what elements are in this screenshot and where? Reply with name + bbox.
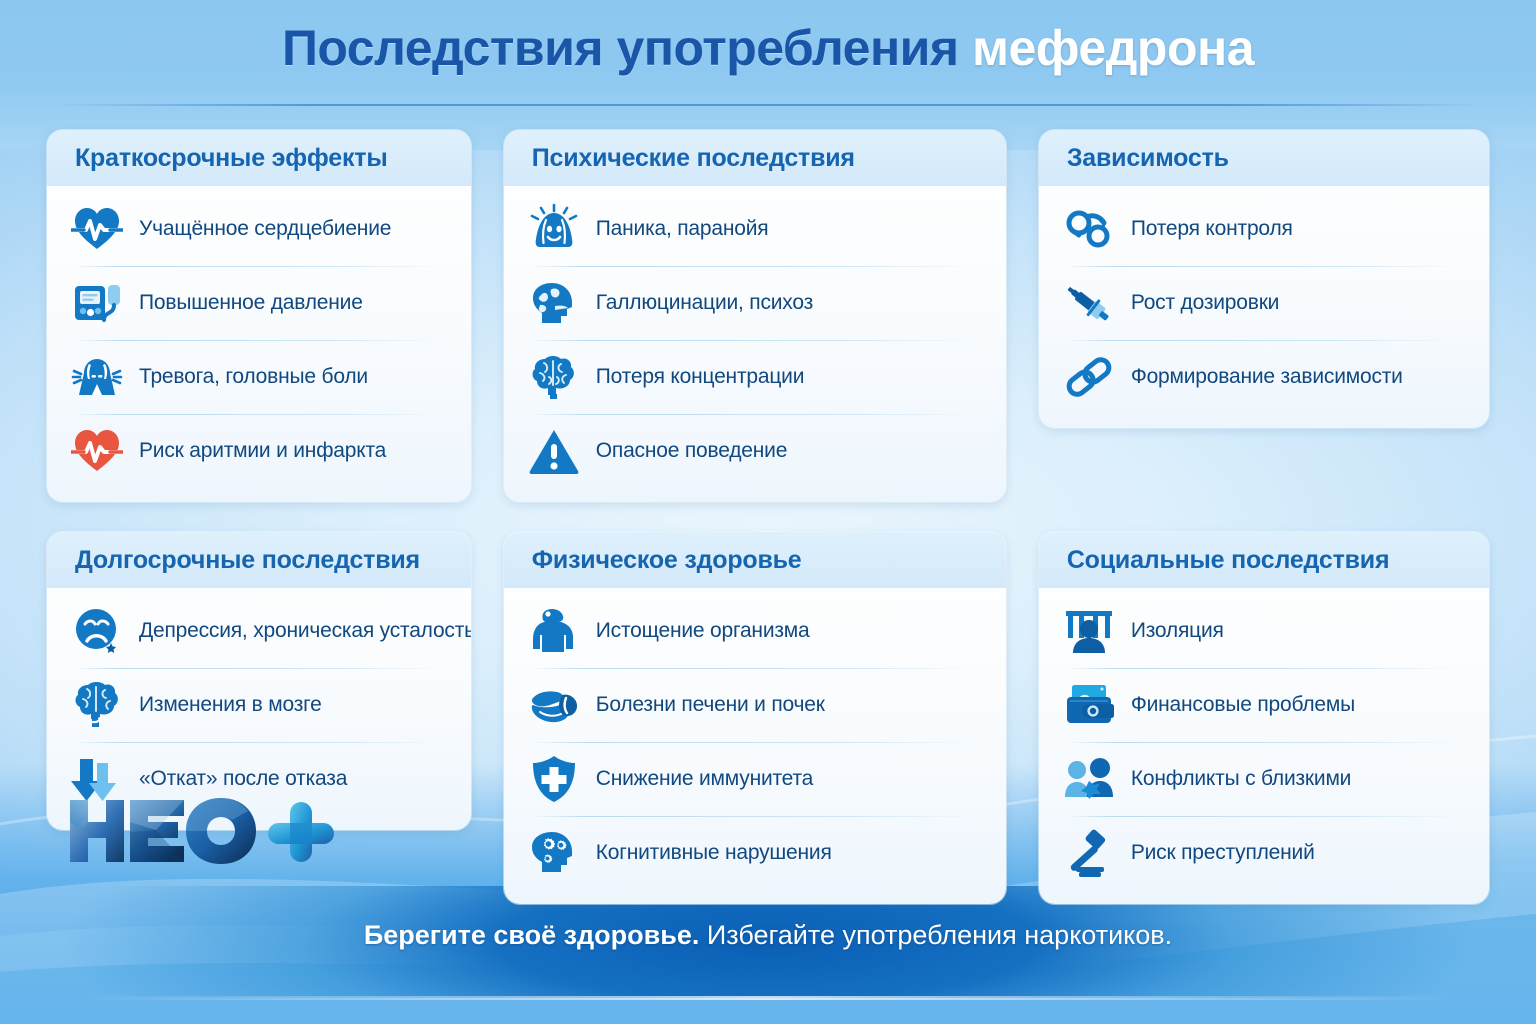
- shield-cross-icon: [526, 751, 582, 807]
- card-addiction: Зависимость Потеря контроля: [1039, 130, 1489, 428]
- card-header: Социальные последствия: [1039, 532, 1489, 588]
- card-body: Истощение организма Болезни печени и поч…: [504, 588, 1006, 904]
- list-item[interactable]: Повышенное давление: [69, 266, 449, 340]
- card-title: Физическое здоровье: [532, 546, 1006, 575]
- card-body: Потеря контроля: [1039, 186, 1489, 428]
- footer-message: Берегите своё здоровье. Избегайте употре…: [0, 920, 1536, 951]
- wallet-icon: [1061, 677, 1117, 733]
- card-title: Краткосрочные эффекты: [75, 144, 471, 173]
- blood-pressure-monitor-icon: [69, 275, 125, 331]
- footer-text-bold: Берегите своё здоровье.: [364, 920, 700, 950]
- list-item-label: Учащённое сердцебиение: [139, 217, 391, 241]
- card-header: Зависимость: [1039, 130, 1489, 186]
- list-item-label: Истощение организма: [596, 619, 810, 643]
- list-item-label: Изменения в мозге: [139, 693, 322, 717]
- list-item-label: Потеря контроля: [1131, 217, 1293, 241]
- card-body: Изоляция Финансовые: [1039, 588, 1489, 904]
- list-item[interactable]: Конфликты с близкими: [1061, 742, 1467, 816]
- card-title: Долгосрочные последствия: [75, 546, 471, 575]
- list-item-label: «Откат» после отказа: [139, 767, 347, 791]
- card-body: Учащённое сердцебиение: [47, 186, 471, 502]
- list-item[interactable]: Риск преступлений: [1061, 816, 1467, 890]
- list-item-label: Формирование зависимости: [1131, 365, 1403, 389]
- title-divider-rule: [52, 104, 1484, 106]
- panic-scared-face-icon: [526, 201, 582, 257]
- list-item[interactable]: Учащённое сердцебиение: [69, 192, 449, 266]
- footer-text-rest: Избегайте употребления наркотиков.: [699, 920, 1172, 950]
- list-item-label: Опасное поведение: [596, 439, 787, 463]
- page-title-accent: мефедрона: [972, 20, 1254, 76]
- list-item[interactable]: Риск аритмии и инфаркта: [69, 414, 449, 488]
- list-item[interactable]: Паника, паранойя: [526, 192, 984, 266]
- card-long-term-consequences: Долгосрочные последствия Депрессия, хрон…: [47, 532, 471, 830]
- card-title: Зависимость: [1067, 144, 1489, 173]
- cards-grid: Краткосрочные эффекты Учащённое сердцеби…: [47, 130, 1489, 904]
- gavel-icon: [1061, 825, 1117, 881]
- list-item-label: Риск преступлений: [1131, 841, 1315, 865]
- head-gears-icon: [526, 825, 582, 881]
- list-item-label: Потеря концентрации: [596, 365, 804, 389]
- list-item-label: Снижение иммунитета: [596, 767, 813, 791]
- syringe-icon: [1061, 275, 1117, 331]
- card-header: Долгосрочные последствия: [47, 532, 471, 588]
- card-social-consequences: Социальные последствия: [1039, 532, 1489, 904]
- list-item[interactable]: Депрессия, хроническая усталость: [69, 594, 449, 668]
- headache-person-icon: [69, 349, 125, 405]
- card-short-term-effects: Краткосрочные эффекты Учащённое сердцеби…: [47, 130, 471, 502]
- list-item[interactable]: Опасное поведение: [526, 414, 984, 488]
- brain-tree-icon: [69, 677, 125, 733]
- liver-kidney-icon: [526, 677, 582, 733]
- list-item[interactable]: Финансовые проблемы: [1061, 668, 1467, 742]
- list-item-label: Конфликты с близкими: [1131, 767, 1351, 791]
- list-item-label: Депрессия, хроническая усталость: [139, 619, 471, 643]
- list-item-label: Тревога, головные боли: [139, 365, 368, 389]
- list-item-label: Паника, паранойя: [596, 217, 769, 241]
- brain-icon: [526, 349, 582, 405]
- card-body: Паника, паранойя Галлюцинации, психоз: [504, 186, 1006, 502]
- chain-link-icon: [1061, 349, 1117, 405]
- page-header: Последствия употребления мефедрона: [0, 22, 1536, 75]
- card-title: Социальные последствия: [1067, 546, 1489, 575]
- list-item-label: Повышенное давление: [139, 291, 363, 315]
- heart-pulse-icon: [69, 201, 125, 257]
- warning-triangle-icon: [526, 423, 582, 479]
- list-item[interactable]: Потеря концентрации: [526, 340, 984, 414]
- list-item[interactable]: Когнитивные нарушения: [526, 816, 984, 890]
- exhausted-person-icon: [526, 603, 582, 659]
- list-item[interactable]: Болезни печени и почек: [526, 668, 984, 742]
- list-item-label: Финансовые проблемы: [1131, 693, 1355, 717]
- list-item[interactable]: Формирование зависимости: [1061, 340, 1467, 414]
- list-item[interactable]: Истощение организма: [526, 594, 984, 668]
- card-title: Психические последствия: [532, 144, 1006, 173]
- list-item[interactable]: Изменения в мозге: [69, 668, 449, 742]
- card-header: Психические последствия: [504, 130, 1006, 186]
- list-item-label: Болезни печени и почек: [596, 693, 825, 717]
- list-item-label: Рост дозировки: [1131, 291, 1279, 315]
- cards-row-top: Краткосрочные эффекты Учащённое сердцеби…: [47, 130, 1489, 502]
- hallucination-head-icon: [526, 275, 582, 331]
- list-item-label: Изоляция: [1131, 619, 1224, 643]
- prison-bars-person-icon: [1061, 603, 1117, 659]
- list-item[interactable]: Снижение иммунитета: [526, 742, 984, 816]
- list-item[interactable]: Потеря контроля: [1061, 192, 1467, 266]
- list-item[interactable]: Изоляция: [1061, 594, 1467, 668]
- handcuffs-icon: [1061, 201, 1117, 257]
- page-title: Последствия употребления мефедрона: [0, 22, 1536, 75]
- heart-pulse-red-icon: [69, 423, 125, 479]
- card-header: Физическое здоровье: [504, 532, 1006, 588]
- footer-text: Берегите своё здоровье. Избегайте употре…: [0, 920, 1536, 951]
- list-item-label: Риск аритмии и инфаркта: [139, 439, 386, 463]
- page-title-main: Последствия употребления: [282, 20, 972, 76]
- conflict-people-icon: [1061, 751, 1117, 807]
- card-physical-health: Физическое здоровье Истощение организма: [504, 532, 1006, 904]
- list-item[interactable]: Рост дозировки: [1061, 266, 1467, 340]
- list-item[interactable]: Тревога, головные боли: [69, 340, 449, 414]
- card-header: Краткосрочные эффекты: [47, 130, 471, 186]
- card-mental-consequences: Психические последствия: [504, 130, 1006, 502]
- sad-face-icon: [69, 603, 125, 659]
- list-item[interactable]: Галлюцинации, психоз: [526, 266, 984, 340]
- neo-plus-logo: [66, 792, 336, 875]
- footer-sheen-line: [80, 996, 1456, 1000]
- list-item-label: Галлюцинации, психоз: [596, 291, 813, 315]
- list-item-label: Когнитивные нарушения: [596, 841, 832, 865]
